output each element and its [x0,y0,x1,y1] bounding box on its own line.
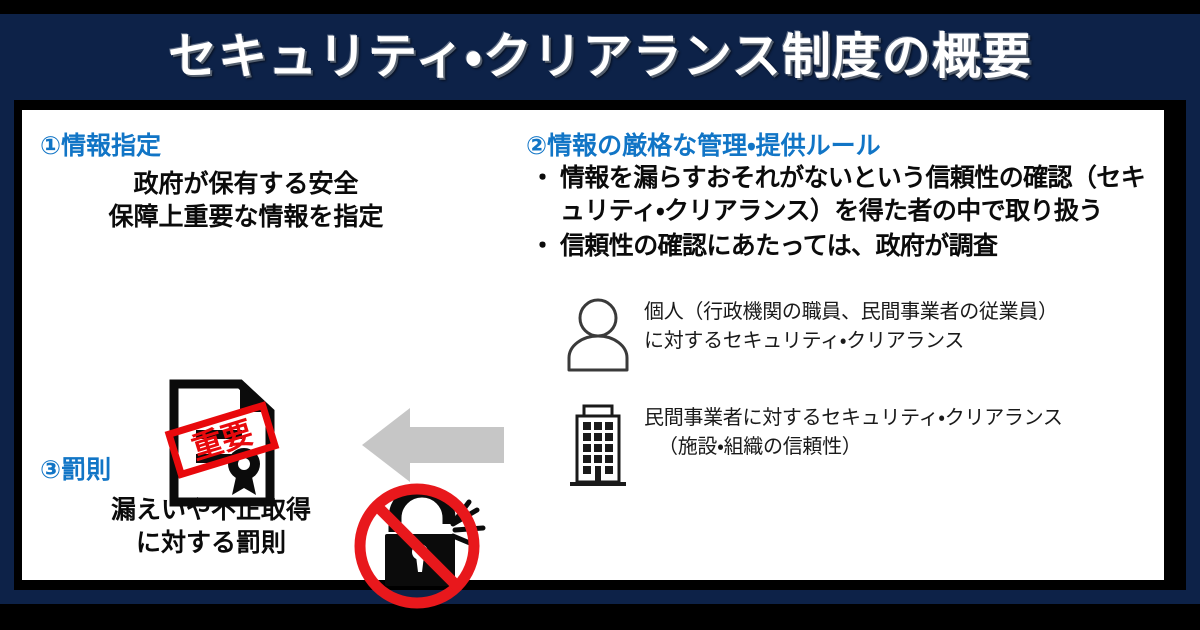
section-1-body: 政府が保有する安全 保障上重要な情報を指定 [46,168,446,234]
person-icon [552,296,644,372]
navy-frame-bottom [0,590,1200,604]
content-panel: ①情報指定 政府が保有する安全 保障上重要な情報を指定 重要 [22,110,1164,580]
building-icon [552,402,644,488]
subitem-company-text: 民間事業者に対するセキュリティ・クリアランス （施設・組織の信頼性） [644,402,1172,462]
section-2-bullet-list: ・ 情報を漏らすおそれがないという信頼性の確認（セキュリティ・クリアランス）を得… [526,162,1156,265]
subitem-individual-line-1: 個人（行政機関の職員、民間事業者の従業員） [644,298,1172,327]
bullet-item: ・ 情報を漏らすおそれがないという信頼性の確認（セキュリティ・クリアランス）を得… [526,162,1156,228]
section-3-body: 漏えいや不正取得 に対する罰則 [46,494,376,560]
important-document-icon: 重要 [152,378,292,508]
subitem-company-line-1: 民間事業者に対するセキュリティ・クリアランス [644,404,1172,433]
subitem-company: 民間事業者に対するセキュリティ・クリアランス （施設・組織の信頼性） [552,402,1172,488]
bullet-marker: ・ [526,162,560,195]
subitem-individual: 個人（行政機関の職員、民間事業者の従業員） に対するセキュリティ・クリアランス [552,296,1172,372]
slide-canvas: セキュリティ・クリアランス制度の概要 ①情報指定 政府が保有する安全 保障上重要… [0,0,1200,630]
bullet-marker: ・ [526,230,560,263]
section-1-body-line-1: 政府が保有する安全 [46,168,446,201]
subitem-individual-text: 個人（行政機関の職員、民間事業者の従業員） に対するセキュリティ・クリアランス [644,296,1172,356]
slide-title: セキュリティ・クリアランス制度の概要 [0,18,1200,96]
navy-frame-right [1186,14,1200,604]
broken-lock-prohibited-icon [347,480,497,610]
section-3-body-line-2: に対する罰則 [46,527,376,560]
section-3-heading: ③罰則 [40,450,111,486]
section-2-heading: ②情報の厳格な管理・提供ルール [526,126,881,162]
subitem-individual-line-2: に対するセキュリティ・クリアランス [644,327,1172,356]
bullet-text: 信頼性の確認にあたっては、政府が調査 [560,230,1156,263]
navy-frame-left [0,14,14,604]
bullet-text: 情報を漏らすおそれがないという信頼性の確認（セキュリティ・クリアランス）を得た者… [560,162,1156,228]
section-1-body-line-2: 保障上重要な情報を指定 [46,201,446,234]
left-arrow [358,405,508,485]
section-3-body-line-1: 漏えいや不正取得 [46,494,376,527]
section-1-heading: ①情報指定 [40,126,161,162]
bullet-item: ・ 信頼性の確認にあたっては、政府が調査 [526,230,1156,263]
subitem-company-line-2: （施設・組織の信頼性） [644,433,862,462]
